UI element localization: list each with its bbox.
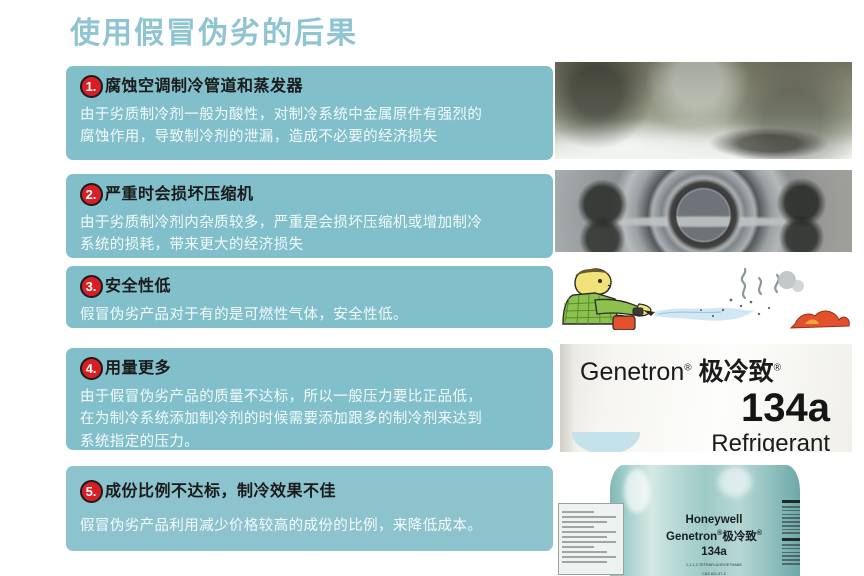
label-decorative-swoosh: [566, 432, 646, 452]
cartoon-scene: [555, 264, 852, 330]
can-chemical-name: 1,1,1,2-TETRAFLUOROETHANE: [654, 563, 774, 568]
corroded-evaporator-photo: [555, 62, 852, 159]
refrigerant-can: Honeywell Genetron®极冷致® 134a 1,1,1,2-TET…: [610, 465, 800, 576]
honeywell-can-photo: Honeywell Genetron®极冷致® 134a 1,1,1,2-TET…: [555, 455, 852, 576]
item-4-body: 由于假冒伪劣产品的质量不达标，所以一般压力要比正品低， 在为制冷系统添加制冷剂的…: [80, 386, 539, 450]
poster-root: 使用假冒伪劣的后果 1. 腐蚀空调制冷管道和蒸发器 由于劣质制冷剂一般为酸性，对…: [0, 0, 864, 576]
item-2-badge: 2.: [80, 183, 103, 206]
damaged-compressor-photo: [555, 170, 852, 252]
genetron-brand: Genetron: [580, 358, 684, 386]
item-1-body-line: 由于劣质制冷剂一般为酸性，对制冷系统中金属原件有强烈的: [80, 104, 539, 126]
genetron-brand-line: Genetron® 极冷致®: [580, 352, 781, 388]
item-5-panel: 5. 成份比例不达标，制冷效果不佳 假冒伪劣产品利用减少价格较高的成份的比例，来…: [66, 466, 553, 551]
item-5-heading-row: 5. 成份比例不达标，制冷效果不佳: [80, 480, 539, 503]
genetron-product-type: Refrigerant: [711, 430, 830, 452]
item-4-title: 用量更多: [105, 361, 171, 377]
item-3-body-line: 假冒伪劣产品对于有的是可燃性气体，安全性低。: [80, 304, 539, 326]
genetron-label-surface: Genetron® 极冷致® 134a Refrigerant: [560, 344, 852, 452]
item-2-title: 严重时会损坏压缩机: [105, 187, 254, 203]
can-company: Honeywell: [654, 513, 774, 529]
can-cas-line: CAS 811-97-2: [654, 572, 774, 576]
item-5-body-line: 假冒伪劣产品利用减少价格较高的成份的比例，来降低成本。: [80, 515, 539, 537]
item-1-badge: 1.: [80, 75, 103, 98]
genetron-label-photo: Genetron® 极冷致® 134a Refrigerant: [560, 344, 852, 452]
item-3-body: 假冒伪劣产品对于有的是可燃性气体，安全性低。: [80, 304, 539, 326]
can-brand-cn-registered: ®: [757, 530, 762, 537]
item-5-badge: 5.: [80, 480, 103, 503]
item-5-title: 成份比例不达标，制冷效果不佳: [105, 484, 336, 500]
item-4-body-line: 在为制冷系统添加制冷剂的时候需要添加跟多的制冷剂来达到: [80, 408, 539, 430]
can-side-label: [558, 503, 624, 575]
can-brand-line: Genetron®极冷致®: [654, 529, 774, 545]
item-3-badge: 3.: [80, 275, 103, 298]
item-4-panel: 4. 用量更多 由于假冒伪劣产品的质量不达标，所以一般压力要比正品低， 在为制冷…: [66, 348, 553, 450]
item-4-body-line: 由于假冒伪劣产品的质量不达标，所以一般压力要比正品低，: [80, 386, 539, 408]
item-2-body: 由于劣质制冷剂内杂质较多，严重是会损坏压缩机或增加制冷 系统的损耗，带来更大的经…: [80, 212, 539, 257]
fire-extinguisher-cartoon: [555, 264, 852, 330]
item-2-body-line: 由于劣质制冷剂内杂质较多，严重是会损坏压缩机或增加制冷: [80, 212, 539, 234]
genetron-brand-cn-registered: ®: [774, 363, 781, 374]
item-4-badge: 4.: [80, 357, 103, 380]
genetron-brand-cn: 极冷致: [699, 358, 774, 386]
genetron-product-number: 134a: [741, 386, 830, 431]
item-5-body: 假冒伪劣产品利用减少价格较高的成份的比例，来降低成本。: [80, 515, 539, 537]
can-brand-cn: 极冷致: [722, 530, 757, 542]
can-instruction-label: [780, 493, 800, 576]
page-title: 使用假冒伪劣的后果: [70, 16, 358, 52]
item-3-heading-row: 3. 安全性低: [80, 275, 539, 298]
item-2-body-line: 系统的损耗，带来更大的经济损失: [80, 234, 539, 256]
item-1-heading-row: 1. 腐蚀空调制冷管道和蒸发器: [80, 75, 539, 98]
item-1-title: 腐蚀空调制冷管道和蒸发器: [105, 79, 303, 95]
item-3-title: 安全性低: [105, 279, 171, 295]
can-product-number: 134a: [654, 545, 774, 561]
can-label-text: Honeywell Genetron®极冷致® 134a 1,1,1,2-TET…: [654, 513, 774, 576]
item-4-heading-row: 4. 用量更多: [80, 357, 539, 380]
item-1-panel: 1. 腐蚀空调制冷管道和蒸发器 由于劣质制冷剂一般为酸性，对制冷系统中金属原件有…: [66, 66, 553, 160]
item-1-body: 由于劣质制冷剂一般为酸性，对制冷系统中金属原件有强烈的 腐蚀作用，导致制冷剂的泄…: [80, 104, 539, 149]
item-1-body-line: 腐蚀作用，导致制冷剂的泄漏，造成不必要的经济损失: [80, 126, 539, 148]
item-4-body-line: 系统指定的压力。: [80, 431, 539, 450]
item-2-panel: 2. 严重时会损坏压缩机 由于劣质制冷剂内杂质较多，严重是会损坏压缩机或增加制冷…: [66, 174, 553, 258]
item-3-panel: 3. 安全性低 假冒伪劣产品对于有的是可燃性气体，安全性低。: [66, 266, 553, 328]
item-2-heading-row: 2. 严重时会损坏压缩机: [80, 183, 539, 206]
genetron-brand-registered: ®: [684, 363, 691, 374]
can-brand: Genetron: [666, 530, 717, 542]
cartoon-svg: [555, 264, 852, 330]
